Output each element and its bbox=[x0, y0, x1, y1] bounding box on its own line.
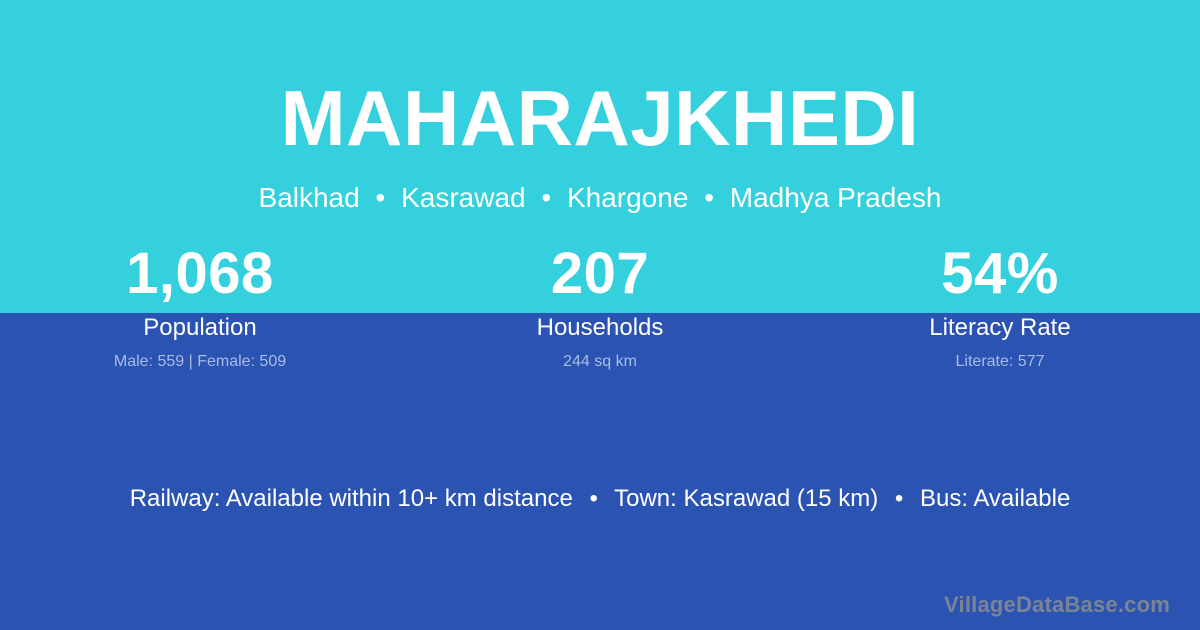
breadcrumb-item-state: Madhya Pradesh bbox=[730, 182, 942, 213]
village-info-card: MAHARAJKHEDI Balkhad • Kasrawad • Khargo… bbox=[0, 0, 1200, 630]
amenities-line: Railway: Available within 10+ km distanc… bbox=[0, 487, 1200, 511]
stat-label: Population bbox=[0, 316, 400, 340]
amenity-town: Town: Kasrawad (15 km) bbox=[614, 485, 878, 512]
card-header: MAHARAJKHEDI Balkhad • Kasrawad • Khargo… bbox=[0, 0, 1200, 212]
stat-value: 207 bbox=[400, 245, 800, 305]
breadcrumb-item-district: Khargone bbox=[567, 182, 688, 213]
stat-sublabel: Male: 559 | Female: 509 bbox=[0, 354, 400, 370]
stat-sublabel: Literate: 577 bbox=[800, 354, 1200, 370]
amenity-bus: Bus: Available bbox=[920, 485, 1070, 512]
stat-value: 1,068 bbox=[0, 245, 400, 305]
breadcrumb-separator-icon: • bbox=[367, 184, 393, 212]
breadcrumb-item-block: Balkhad bbox=[259, 182, 360, 213]
breadcrumb-separator-icon: • bbox=[533, 184, 559, 212]
stat-population: 1,068 Population Male: 559 | Female: 509 bbox=[0, 245, 400, 370]
stat-label: Literacy Rate bbox=[800, 316, 1200, 340]
stat-label: Households bbox=[400, 316, 800, 340]
amenity-separator-icon: • bbox=[579, 487, 607, 511]
breadcrumb-separator-icon: • bbox=[696, 184, 722, 212]
breadcrumb-item-tehsil: Kasrawad bbox=[401, 182, 526, 213]
breadcrumb: Balkhad • Kasrawad • Khargone • Madhya P… bbox=[0, 184, 1200, 212]
amenity-railway: Railway: Available within 10+ km distanc… bbox=[130, 485, 573, 512]
stat-households: 207 Households 244 sq km bbox=[400, 245, 800, 370]
stat-sublabel: 244 sq km bbox=[400, 354, 800, 370]
stat-value: 54% bbox=[800, 245, 1200, 305]
stat-literacy-rate: 54% Literacy Rate Literate: 577 bbox=[800, 245, 1200, 370]
stats-row: 1,068 Population Male: 559 | Female: 509… bbox=[0, 245, 1200, 370]
page-title: MAHARAJKHEDI bbox=[0, 79, 1200, 157]
amenity-separator-icon: • bbox=[885, 487, 913, 511]
site-branding: VillageDataBase.com bbox=[944, 594, 1170, 616]
